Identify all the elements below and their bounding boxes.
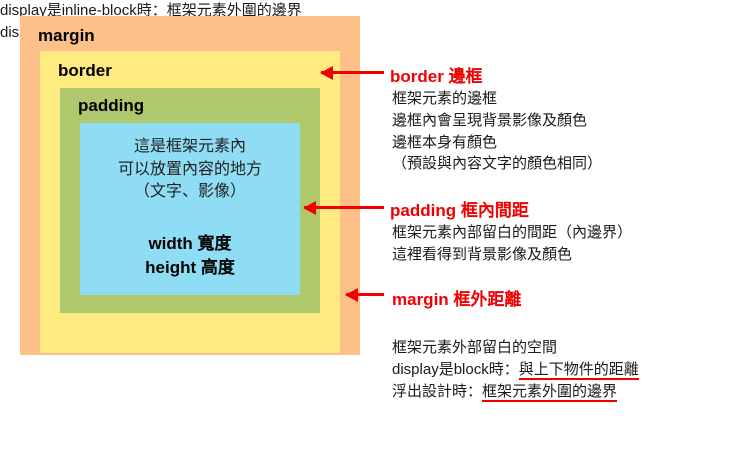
margin-annotation-line-3: 浮出設計時：框架元素外圍的邊界 [392,381,639,403]
margin-line-3-prefix: 浮出設計時： [392,383,482,400]
border-annotation-line-4: （預設與內容文字的顏色相同） [392,153,602,175]
border-annotation-line-2: 邊框內會呈現背景影像及顏色 [392,110,602,132]
border-annotation-line-1: 框架元素的邊框 [392,88,602,110]
margin-annotation-line-2: display是block時：與上下物件的距離 [392,359,639,381]
margin-annotation-title: margin 框外距離 [392,285,521,310]
margin-annotation-body: 框架元素外部留白的空間 display是block時：與上下物件的距離 浮出設計… [392,337,639,402]
margin-line-2-prefix: display是block時： [392,361,519,378]
padding-box-label: padding [78,96,144,116]
margin-box-label: margin [38,26,95,46]
margin-line-2-emphasis: 與上下物件的距離 [519,361,639,380]
content-line-3: （文字、影像） [80,181,300,204]
padding-annotation-title: padding 框內間距 [390,196,529,221]
padding-annotation-line-2: 這裡看得到背景影像及顏色 [392,244,632,266]
padding-pointer-arrow-icon [304,206,384,209]
margin-pointer-arrow-icon [346,293,384,296]
border-annotation-title: border 邊框 [390,62,483,87]
content-line-2: 可以放置內容的地方 [80,159,300,182]
padding-annotation-body: 框架元素內部留白的間距（內邊界） 這裡看得到背景影像及顏色 [392,222,632,266]
content-width-label: width 寬度 [80,232,300,256]
content-box-dimensions: width 寬度 height 高度 [80,232,300,280]
box-model-diagram-canvas: margin border padding 這是框架元素內 可以放置內容的地方 … [0,0,750,461]
content-height-label: height 高度 [80,256,300,280]
padding-annotation-line-1: 框架元素內部留白的間距（內邊界） [392,222,632,244]
border-pointer-arrow-icon [321,71,384,74]
margin-line-3-emphasis: 框架元素外圍的邊界 [482,383,617,402]
border-annotation-body: 框架元素的邊框 邊框內會呈現背景影像及顏色 邊框本身有顏色 （預設與內容文字的顏… [392,88,602,175]
content-box-text: 這是框架元素內 可以放置內容的地方 （文字、影像） [80,136,300,204]
border-box-label: border [58,61,112,81]
margin-annotation-line-1: 框架元素外部留白的空間 [392,337,639,359]
border-annotation-line-3: 邊框本身有顏色 [392,132,602,154]
content-line-1: 這是框架元素內 [80,136,300,159]
